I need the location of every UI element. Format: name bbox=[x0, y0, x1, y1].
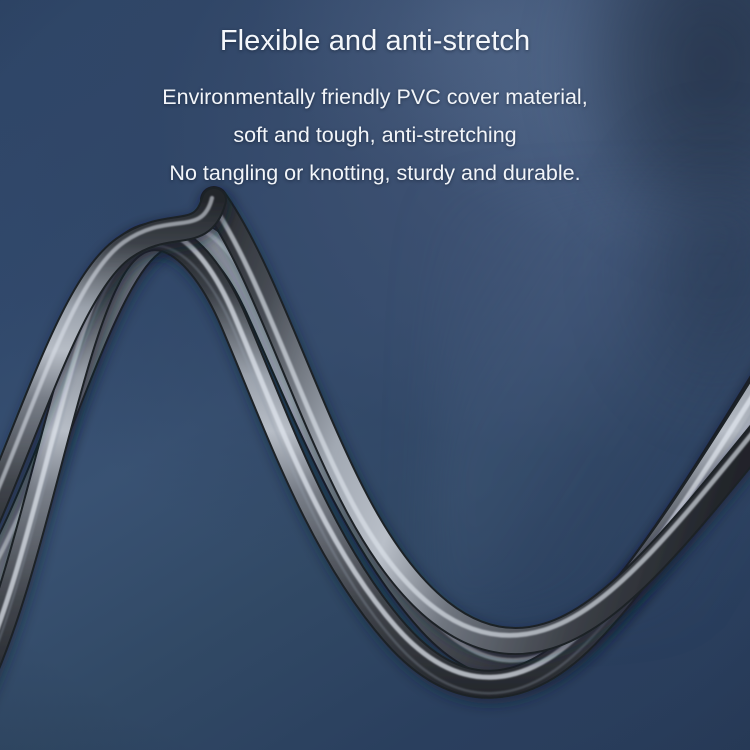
product-feature-banner: Flexible and anti-stretch Environmentall… bbox=[0, 0, 750, 750]
cable-photo bbox=[0, 0, 750, 750]
cable-illustration bbox=[0, 0, 750, 750]
